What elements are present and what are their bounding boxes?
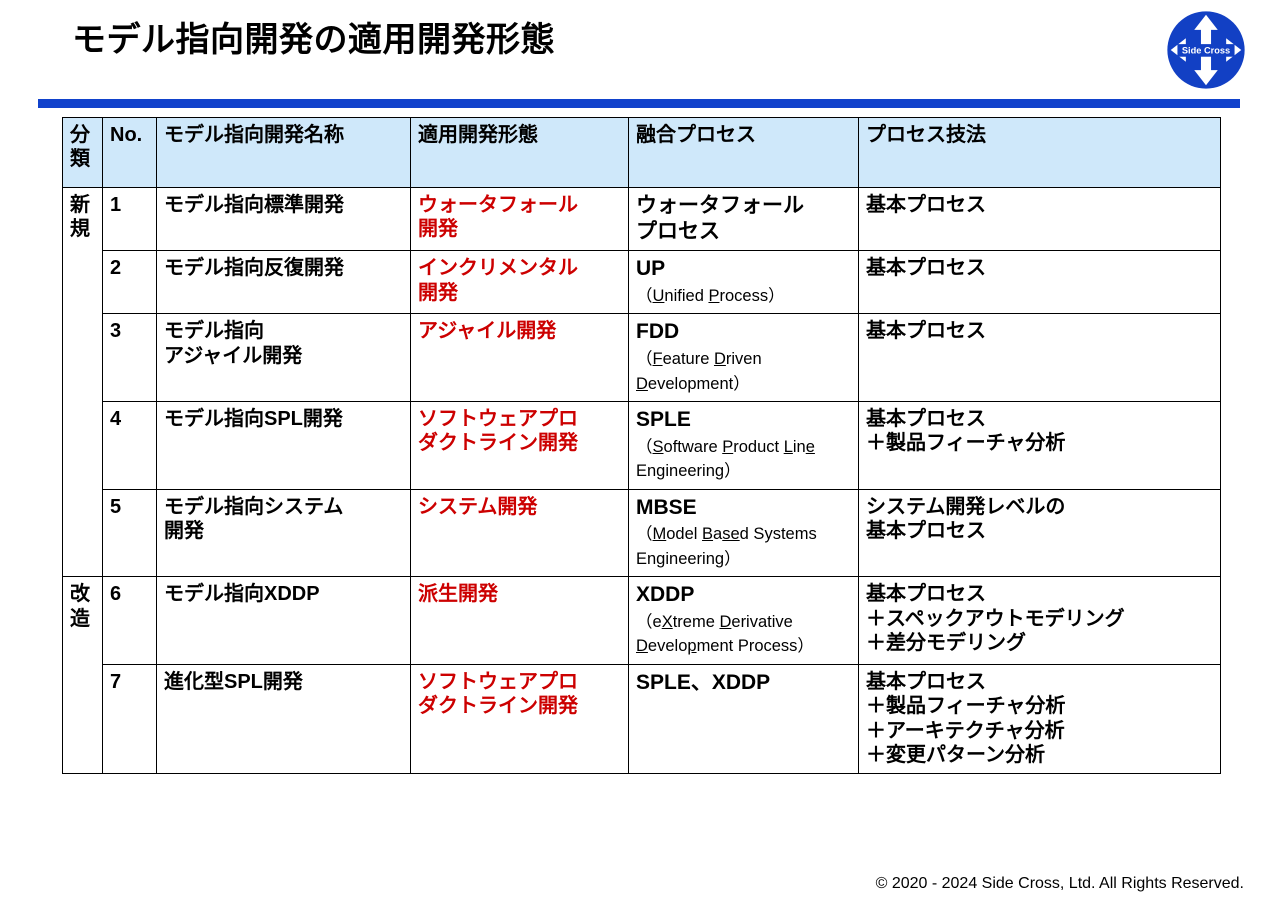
column-header-category: 分類 bbox=[63, 118, 103, 188]
applied-form-cell: インクリメンタル開発 bbox=[411, 251, 629, 314]
copyright-footer: © 2020 - 2024 Side Cross, Ltd. All Right… bbox=[876, 875, 1244, 893]
column-header-form: 適用開発形態 bbox=[411, 118, 629, 188]
fusion-process-cell: ウォータフォールプロセス bbox=[629, 188, 859, 251]
column-header-no: No. bbox=[103, 118, 157, 188]
row-number-cell: 1 bbox=[103, 188, 157, 251]
title-divider-bar bbox=[38, 99, 1240, 108]
development-name-cell: モデル指向システム開発 bbox=[157, 489, 411, 577]
table-row: 新規1モデル指向標準開発ウォータフォール開発ウォータフォールプロセス基本プロセス bbox=[63, 188, 1221, 251]
applied-form-cell: ソフトウェアプロダクトライン開発 bbox=[411, 402, 629, 490]
row-number-cell: 6 bbox=[103, 577, 157, 665]
table-row: 5モデル指向システム開発システム開発MBSE（Model Based Syste… bbox=[63, 489, 1221, 577]
column-header-name: モデル指向開発名称 bbox=[157, 118, 411, 188]
fusion-process-cell: XDDP（eXtreme Derivative Development Proc… bbox=[629, 577, 859, 665]
development-name-cell: モデル指向アジャイル開発 bbox=[157, 314, 411, 402]
table-header-row: 分類 No. モデル指向開発名称 適用開発形態 融合プロセス プロセス技法 bbox=[63, 118, 1221, 188]
process-technique-cell: 基本プロセス bbox=[859, 251, 1221, 314]
applied-form-cell: ウォータフォール開発 bbox=[411, 188, 629, 251]
development-name-cell: 進化型SPL開発 bbox=[157, 664, 411, 774]
fusion-process-cell: UP（Unified Process） bbox=[629, 251, 859, 314]
category-cell: 改造 bbox=[63, 577, 103, 774]
column-header-process: 融合プロセス bbox=[629, 118, 859, 188]
development-name-cell: モデル指向標準開発 bbox=[157, 188, 411, 251]
fusion-process-cell: SPLE（Software Product Line Engineering） bbox=[629, 402, 859, 490]
fusion-process-cell: MBSE（Model Based Systems Engineering） bbox=[629, 489, 859, 577]
applied-form-cell: ソフトウェアプロダクトライン開発 bbox=[411, 664, 629, 774]
process-technique-cell: 基本プロセス＋製品フィーチャ分析＋アーキテクチャ分析＋変更パターン分析 bbox=[859, 664, 1221, 774]
process-technique-cell: 基本プロセス＋スペックアウトモデリング＋差分モデリング bbox=[859, 577, 1221, 665]
process-technique-cell: 基本プロセス bbox=[859, 188, 1221, 251]
fusion-process-cell: FDD（Feature Driven Development） bbox=[629, 314, 859, 402]
applied-form-cell: システム開発 bbox=[411, 489, 629, 577]
table-body: 新規1モデル指向標準開発ウォータフォール開発ウォータフォールプロセス基本プロセス… bbox=[63, 188, 1221, 774]
development-forms-table: 分類 No. モデル指向開発名称 適用開発形態 融合プロセス プロセス技法 新規… bbox=[62, 117, 1220, 774]
row-number-cell: 2 bbox=[103, 251, 157, 314]
development-name-cell: モデル指向SPL開発 bbox=[157, 402, 411, 490]
column-header-technique: プロセス技法 bbox=[859, 118, 1221, 188]
logo-label: Side Cross bbox=[1182, 45, 1230, 55]
applied-form-cell: 派生開発 bbox=[411, 577, 629, 665]
category-cell: 新規 bbox=[63, 188, 103, 577]
process-technique-cell: システム開発レベルの基本プロセス bbox=[859, 489, 1221, 577]
page-title: モデル指向開発の適用開発形態 bbox=[72, 22, 555, 59]
row-number-cell: 5 bbox=[103, 489, 157, 577]
process-technique-cell: 基本プロセス＋製品フィーチャ分析 bbox=[859, 402, 1221, 490]
fusion-process-cell: SPLE、XDDP bbox=[629, 664, 859, 774]
applied-form-cell: アジャイル開発 bbox=[411, 314, 629, 402]
development-name-cell: モデル指向反復開発 bbox=[157, 251, 411, 314]
row-number-cell: 4 bbox=[103, 402, 157, 490]
row-number-cell: 7 bbox=[103, 664, 157, 774]
process-technique-cell: 基本プロセス bbox=[859, 314, 1221, 402]
table-row: 3モデル指向アジャイル開発アジャイル開発FDD（Feature Driven D… bbox=[63, 314, 1221, 402]
development-name-cell: モデル指向XDDP bbox=[157, 577, 411, 665]
table-row: 4モデル指向SPL開発ソフトウェアプロダクトライン開発SPLE（Software… bbox=[63, 402, 1221, 490]
table-row: 2モデル指向反復開発インクリメンタル開発UP（Unified Process）基… bbox=[63, 251, 1221, 314]
table-row: 改造6モデル指向XDDP派生開発XDDP（eXtreme Derivative … bbox=[63, 577, 1221, 665]
side-cross-logo: Side Cross bbox=[1164, 8, 1248, 92]
row-number-cell: 3 bbox=[103, 314, 157, 402]
table-row: 7進化型SPL開発ソフトウェアプロダクトライン開発SPLE、XDDP基本プロセス… bbox=[63, 664, 1221, 774]
